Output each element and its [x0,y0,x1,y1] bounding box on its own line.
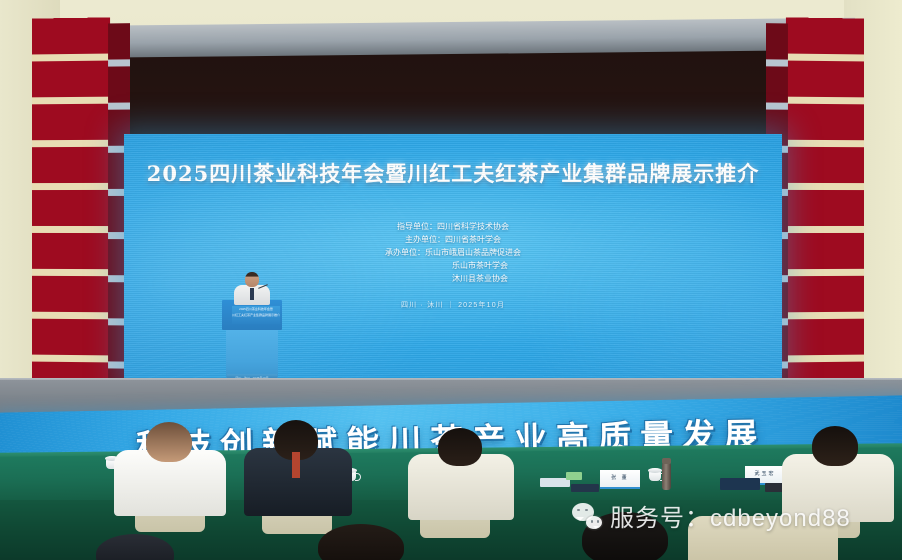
thermos-bottle [662,462,671,490]
watermark-text: 服务号：cdbeyond88 [610,498,851,533]
speaker-at-podium [232,272,272,304]
notebook [720,478,760,490]
person-head [96,534,174,560]
conference-photo: 2025四川茶业科技年会暨川红工夫红茶产业集群品牌展示推介 指导单位：四川省科学… [0,0,902,560]
teacup [648,468,663,481]
organizer-line-organizer-1: 承办单位：乐山市峨眉山茶品牌促进会 [124,246,782,259]
wechat-icon [572,503,602,529]
organizer-line-host: 主办单位：四川省茶叶学会 [124,233,782,246]
organizer-line-organizer-2: 乐山市茶叶学会 [124,259,782,272]
person-head [812,426,858,466]
seated-person [244,420,352,512]
speaker-head [245,272,259,287]
smartphone [571,484,599,492]
name-card-label: 张 董 [600,470,640,487]
foreground-person [318,524,404,560]
organizer-line-organizer-3: 沐川县茶业协会 [124,272,782,285]
podium: 2025四川茶业科技年会暨 川红工夫红茶产业集群品牌展示推介 四川 · 沐川 ·… [226,300,278,382]
led-backdrop-screen: 2025四川茶业科技年会暨川红工夫红茶产业集群品牌展示推介 指导单位：四川省科学… [124,134,782,384]
person-head [438,428,482,466]
organizer-line-guidance: 指导单位：四川省科学技术协会 [124,220,782,233]
column-face [786,17,864,410]
person-head [318,524,404,560]
decorative-column-left [32,17,110,410]
event-main-title: 2025四川茶业科技年会暨川红工夫红茶产业集群品牌展示推介 [124,158,782,188]
organizer-block: 指导单位：四川省科学技术协会 主办单位：四川省茶叶学会 承办单位：乐山市峨眉山茶… [124,220,782,285]
lanyard [292,452,300,478]
podium-sign: 2025四川茶业科技年会暨 川红工夫红茶产业集群品牌展示推介 [232,306,280,324]
decorative-column-right [786,17,864,410]
name-card: 张 董 [600,470,640,489]
person-head [146,422,192,462]
seated-person [408,428,514,518]
watermark: 服务号：cdbeyond88 [572,498,851,533]
podium-sign-line-2: 川红工夫红茶产业集群品牌展示推介 [232,312,280,318]
sticky-note [566,472,582,480]
column-face [32,17,110,410]
thermos-cap [662,458,671,464]
speaker-tie [250,288,254,300]
foreground-person [96,534,174,560]
seated-person [114,422,226,512]
